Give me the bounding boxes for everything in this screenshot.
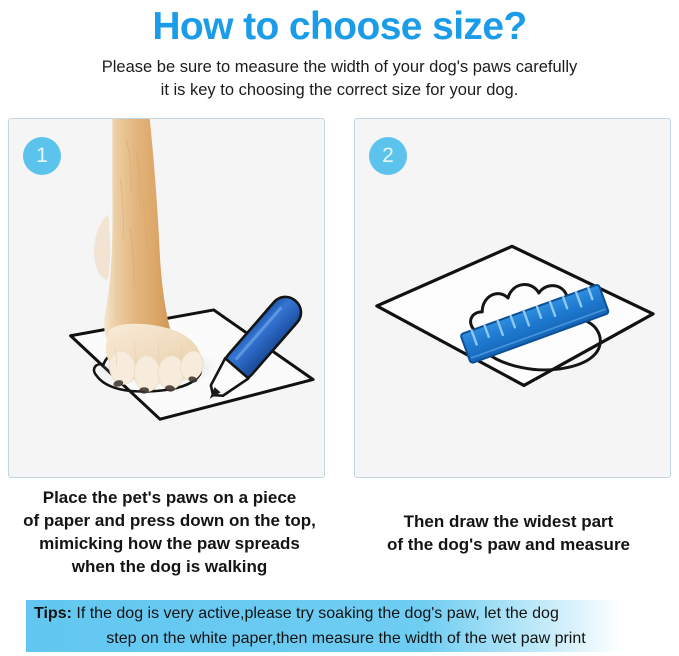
step-badge-2: 2: [369, 137, 407, 175]
tips-line-1: Tips: If the dog is very active,please t…: [26, 601, 666, 626]
captions-row: Place the pet's paws on a piece of paper…: [0, 486, 679, 586]
caption-2-line-2: of the dog's paw and measure: [339, 533, 678, 556]
step-caption-2: Then draw the widest part of the dog's p…: [339, 486, 678, 586]
page-title: How to choose size?: [0, 2, 679, 50]
tips-line-1-text: If the dog is very active,please try soa…: [72, 605, 559, 622]
steps-panel-row: 1: [0, 118, 679, 478]
step-caption-1: Place the pet's paws on a piece of paper…: [0, 486, 339, 586]
subtitle-line-2: it is key to choosing the correct size f…: [0, 79, 679, 102]
page-subtitle: Please be sure to measure the width of y…: [0, 56, 679, 102]
caption-2-line-1: Then draw the widest part: [339, 510, 678, 533]
illustration-dog-paw-on-paper: [9, 119, 324, 477]
caption-1-line-3: mimicking how the paw spreads: [0, 532, 339, 555]
tips-text: Tips: If the dog is very active,please t…: [26, 600, 666, 651]
dewclaw-tuft: [94, 215, 110, 281]
tips-banner: Tips: If the dog is very active,please t…: [26, 600, 666, 652]
tips-label: Tips:: [34, 605, 72, 622]
header: How to choose size? Please be sure to me…: [0, 0, 679, 102]
subtitle-line-1: Please be sure to measure the width of y…: [0, 56, 679, 79]
step-panel-1: 1: [8, 118, 325, 478]
caption-1-line-1: Place the pet's paws on a piece: [0, 486, 339, 509]
caption-1-line-4: when the dog is walking: [0, 555, 339, 578]
tips-line-2: step on the white paper,then measure the…: [26, 626, 666, 651]
caption-1-line-2: of paper and press down on the top,: [0, 509, 339, 532]
illustration-measure-paw-outline: [355, 119, 670, 477]
step-badge-1: 1: [23, 137, 61, 175]
step-panel-2: 2: [354, 118, 671, 478]
dog-leg-fur: [104, 119, 172, 357]
